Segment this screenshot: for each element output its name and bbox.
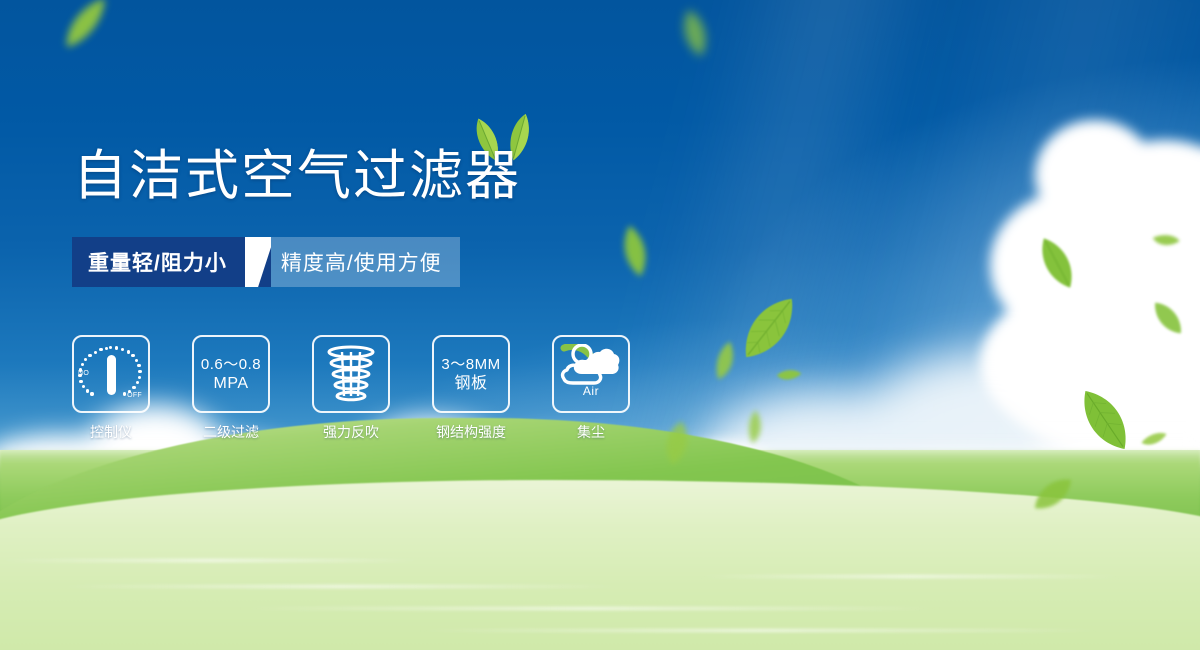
feature-item[interactable]: 3～8MM 钢板 钢结构强度 bbox=[432, 335, 510, 442]
feature-item[interactable]: 0.6～0.8 MPA 二级过滤 bbox=[192, 335, 270, 442]
gauge-label-off: OFF bbox=[127, 392, 142, 399]
subtitle-divider bbox=[245, 237, 271, 287]
subtitle-bar: 重量轻/阻力小 精度高/使用方便 bbox=[72, 237, 460, 287]
feature-item[interactable]: 强力反吹 bbox=[312, 335, 390, 442]
page-title: 自洁式空气过滤器 bbox=[73, 148, 521, 204]
pressure-icon-line1: 0.6～0.8 bbox=[201, 355, 261, 374]
subtitle-right: 精度高/使用方便 bbox=[271, 237, 460, 287]
grass-field bbox=[0, 450, 1200, 650]
subtitle-left: 重量轻/阻力小 bbox=[72, 237, 245, 287]
feature-list: NO OFF 控制仪 0.6～0.8 MPA 二级过滤 bbox=[72, 335, 630, 442]
feature-label: 强力反吹 bbox=[323, 422, 379, 442]
gauge-icon: NO OFF bbox=[78, 343, 144, 405]
feature-icon-box: Air bbox=[552, 335, 630, 413]
feature-item[interactable]: NO OFF 控制仪 bbox=[72, 335, 150, 442]
feature-icon-box: 0.6～0.8 MPA bbox=[192, 335, 270, 413]
coil-icon bbox=[325, 345, 377, 403]
grass-foreground bbox=[0, 480, 1200, 650]
feature-item[interactable]: Air 集尘 bbox=[552, 335, 630, 442]
cloud-air-label: Air bbox=[583, 382, 599, 401]
steel-icon-line1: 3～8MM bbox=[441, 355, 500, 374]
feature-label: 钢结构强度 bbox=[436, 422, 506, 442]
feature-label: 二级过滤 bbox=[203, 422, 259, 442]
feature-icon-box: 3～8MM 钢板 bbox=[432, 335, 510, 413]
product-banner: 自洁式空气过滤器 重量轻/阻力小 精度高/使用方便 bbox=[0, 0, 1200, 650]
gauge-label-no: NO bbox=[78, 370, 89, 377]
feature-label: 控制仪 bbox=[90, 422, 132, 442]
steel-icon-line2: 钢板 bbox=[454, 374, 487, 393]
feature-icon-box bbox=[312, 335, 390, 413]
pressure-icon-line2: MPA bbox=[214, 374, 249, 393]
gauge-needle bbox=[107, 355, 116, 395]
feature-icon-box: NO OFF bbox=[72, 335, 150, 413]
feature-label: 集尘 bbox=[577, 422, 605, 442]
